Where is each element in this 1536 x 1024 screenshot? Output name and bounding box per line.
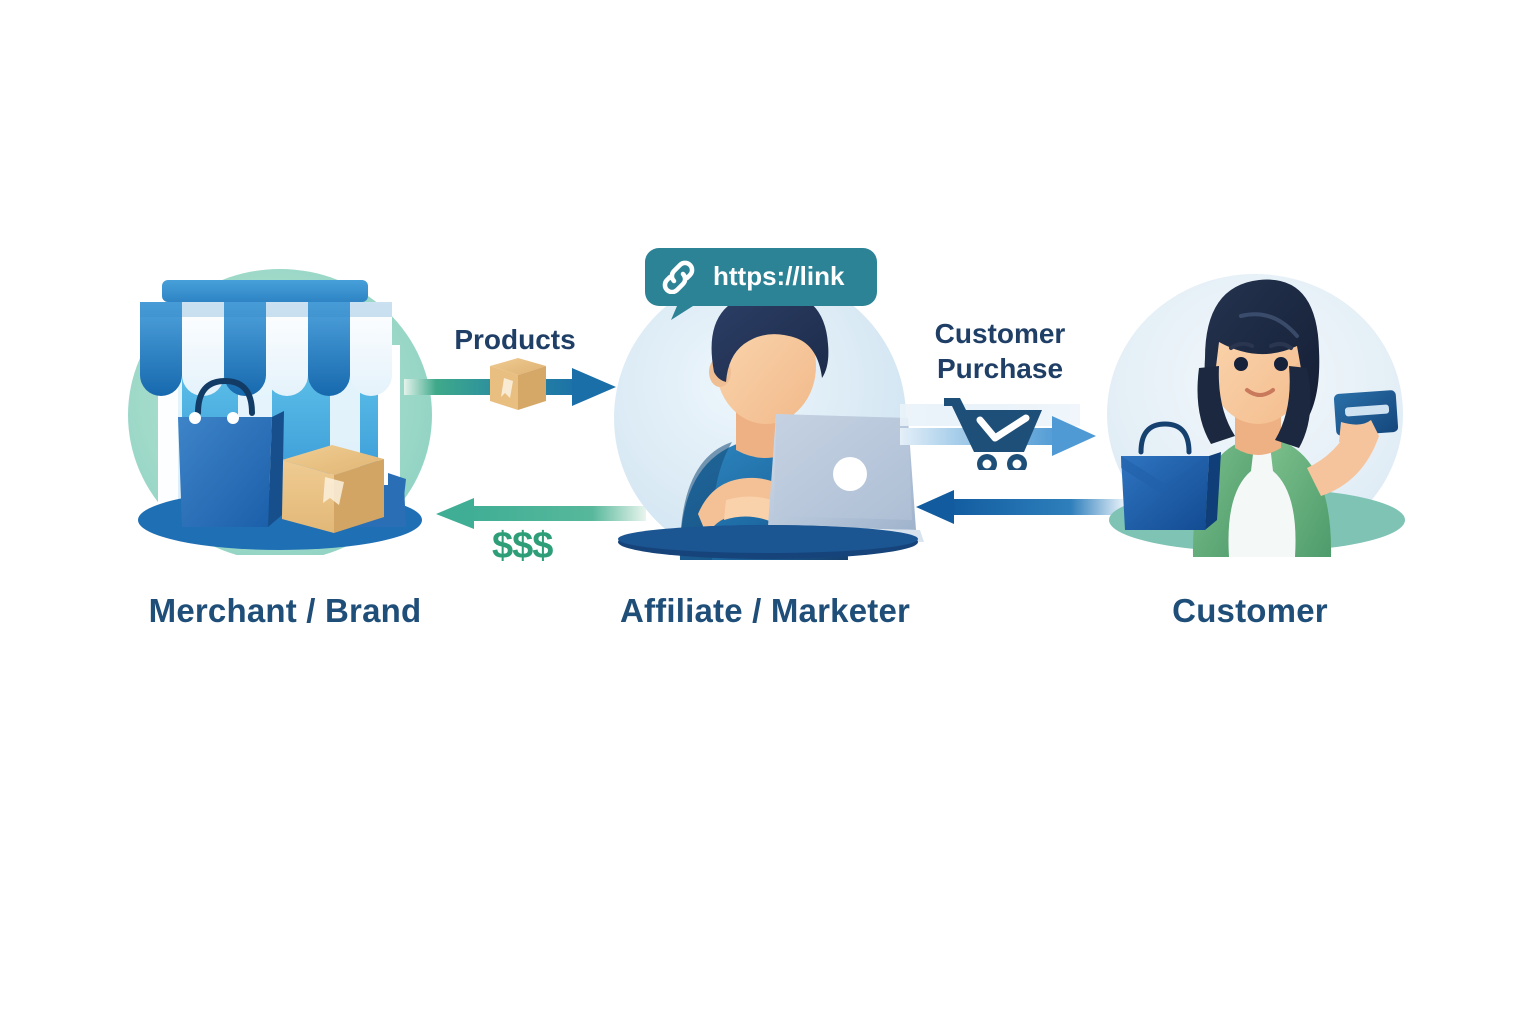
storefront-icon — [120, 265, 450, 555]
flow-products[interactable] — [404, 358, 634, 418]
woman-credit-card-icon — [1095, 272, 1405, 557]
merchant-node-label: Merchant / Brand — [105, 592, 465, 630]
link-chain-icon — [661, 260, 697, 294]
arrow-left-icon — [916, 490, 1124, 524]
flow-commission-label: $$$ — [492, 525, 552, 568]
cardboard-box-icon — [282, 445, 384, 533]
flow-customer-purchase-label-line1: Customer — [888, 316, 1112, 351]
flow-tracked-sale[interactable] — [908, 487, 1124, 527]
customer-node[interactable] — [1095, 272, 1405, 557]
flow-customer-purchase-label: Customer Purchase — [888, 316, 1112, 386]
affiliate-node-label: Affiliate / Marketer — [590, 592, 940, 630]
flow-products-label: Products — [404, 322, 626, 357]
link-bubble[interactable]: https://link — [645, 248, 877, 320]
merchant-node[interactable] — [120, 265, 450, 555]
diagram-canvas: Merchant / Brand — [0, 0, 1536, 1024]
package-box-icon — [490, 358, 546, 410]
flow-customer-purchase-label-line2: Purchase — [888, 351, 1112, 386]
link-bubble-text: https://link — [713, 261, 844, 292]
customer-node-label: Customer — [1090, 592, 1410, 630]
flow-customer-purchase[interactable] — [900, 390, 1110, 470]
